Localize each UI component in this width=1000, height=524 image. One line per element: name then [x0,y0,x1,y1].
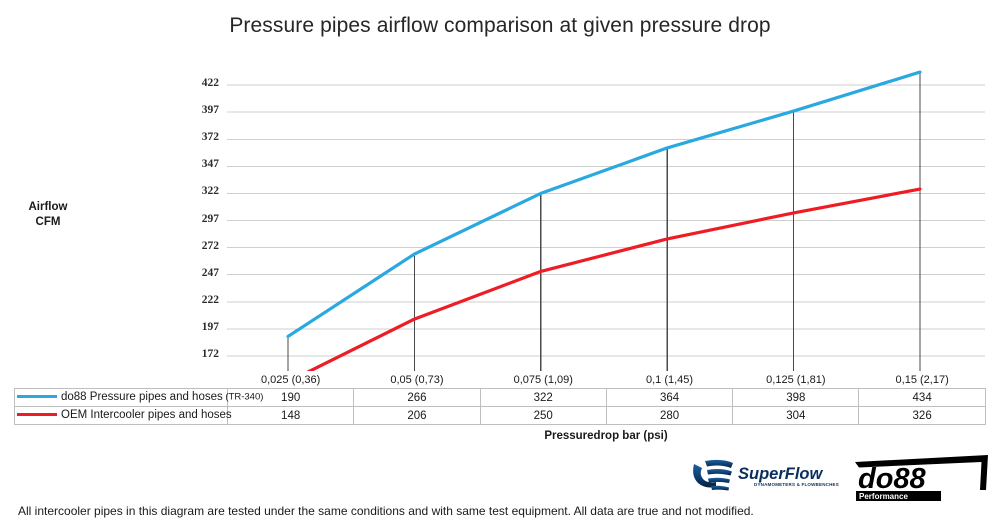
y-axis-tick-label: 297 [175,213,219,225]
legend-label: OEM Intercooler pipes and hoses [61,409,232,421]
x-axis-category-label: 0,05 (0,73) [354,371,480,389]
superflow-wordmark: SuperFlow [738,465,824,483]
plot-area [227,58,985,383]
series-lines [288,72,920,382]
table-header-row: 0,025 (0,36)0,05 (0,73)0,075 (1,09)0,1 (… [15,371,986,389]
y-axis-tick-label: 272 [175,240,219,252]
y-axis-title: Airflow CFM [6,200,90,230]
legend-label: do88 Pressure pipes and hoses [61,391,223,403]
y-axis-tick-label: 172 [175,348,219,360]
data-table: 0,025 (0,36)0,05 (0,73)0,075 (1,09)0,1 (… [14,371,986,425]
data-value-cell: 322 [480,389,606,407]
x-axis-category-label: 0,125 (1,81) [733,371,859,389]
y-axis-tick-label: 222 [175,294,219,306]
footer-note: All intercooler pipes in this diagram ar… [18,504,754,518]
y-axis-title-line2: CFM [6,215,90,230]
data-value-cell: 304 [733,407,859,425]
table-corner-cell [15,371,228,389]
superflow-logo: SuperFlow DYNAMOMETERS & FLOWBENCHES [690,456,850,496]
y-axis-title-line1: Airflow [6,200,90,215]
data-value-cell: 326 [859,407,985,425]
x-axis-category-label: 0,1 (1,45) [606,371,732,389]
page-title: Pressure pipes airflow comparison at giv… [0,14,1000,38]
data-value-cell: 364 [606,389,732,407]
data-value-cell: 266 [354,389,480,407]
line-chart-svg [227,58,985,383]
legend-item-oem[interactable]: OEM Intercooler pipes and hoses [15,407,228,425]
do88-wordmark: do88 [858,463,927,495]
table-row: OEM Intercooler pipes and hoses148206250… [15,407,986,425]
gridlines [227,85,985,383]
y-axis-tick-label: 372 [175,131,219,143]
do88-tagline: Performance [859,492,908,501]
x-axis-category-label: 0,025 (0,36) [228,371,354,389]
data-value-cell: 434 [859,389,985,407]
legend-color-swatch [17,413,57,416]
legend-item-do88[interactable]: do88 Pressure pipes and hoses (TR-340) [15,389,228,407]
do88-logo: do88 Performance [852,452,992,502]
data-value-cell: 398 [733,389,859,407]
legend-label-suffix: (TR-340) [223,392,264,403]
y-axis-tick-label: 422 [175,77,219,89]
logo-strip: SuperFlow DYNAMOMETERS & FLOWBENCHES do8… [690,452,990,500]
y-axis-tick-label: 322 [175,185,219,197]
x-axis-category-label: 0,075 (1,09) [480,371,606,389]
data-value-cell: 280 [606,407,732,425]
data-value-cell: 206 [354,407,480,425]
x-axis-title: Pressuredrop bar (psi) [227,430,985,442]
x-axis-category-label: 0,15 (2,17) [859,371,985,389]
data-value-cell: 250 [480,407,606,425]
y-axis-tick-label: 247 [175,267,219,279]
y-axis-tick-label: 197 [175,321,219,333]
superflow-tagline: DYNAMOMETERS & FLOWBENCHES [754,482,839,487]
y-axis-tick-label: 397 [175,104,219,116]
table-row: do88 Pressure pipes and hoses (TR-340)19… [15,389,986,407]
legend-color-swatch [17,395,57,398]
data-value-cell: 148 [228,407,354,425]
y-axis-tick-label: 347 [175,158,219,170]
series-line-oem [288,189,920,382]
